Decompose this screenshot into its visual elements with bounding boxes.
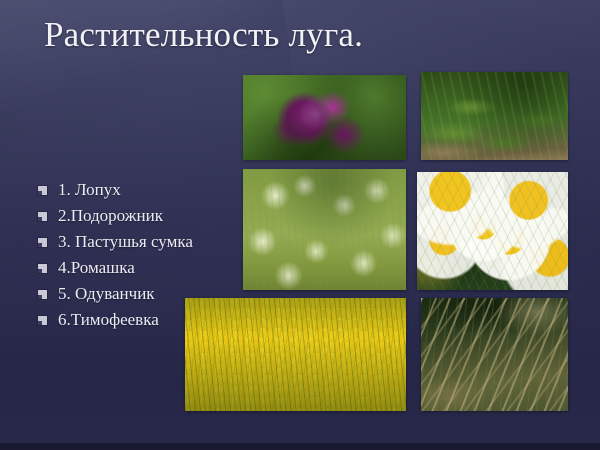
list-item[interactable]: 6.Тимофеевка — [38, 308, 193, 332]
slide-title: Растительность луга. — [44, 12, 363, 58]
photo-burdock[interactable] — [243, 75, 406, 160]
photo-shepherds-purse-image — [243, 169, 406, 290]
photo-dandelion[interactable] — [185, 298, 406, 411]
square-bullet-icon — [38, 264, 47, 273]
list-item-label: 5. Одуванчик — [58, 284, 155, 304]
list-item-label: 2.Подорожник — [58, 206, 163, 226]
photo-chamomile[interactable] — [417, 172, 568, 290]
list-item-label: 3. Пастушья сумка — [58, 232, 193, 252]
plant-list: 1. Лопух 2.Подорожник 3. Пастушья сумка … — [38, 178, 193, 334]
list-item[interactable]: 5. Одуванчик — [38, 282, 193, 306]
list-item-label: 4.Ромашка — [58, 258, 135, 278]
photo-timothy-grass[interactable] — [421, 298, 568, 411]
list-item-label: 1. Лопух — [58, 180, 121, 200]
photo-plantain[interactable] — [421, 72, 568, 160]
square-bullet-icon — [38, 238, 47, 247]
photo-timothy-grass-image — [421, 298, 568, 411]
list-item-label: 6.Тимофеевка — [58, 310, 159, 330]
slide-footer-strip — [0, 443, 600, 450]
square-bullet-icon — [38, 186, 47, 195]
list-item[interactable]: 4.Ромашка — [38, 256, 193, 280]
list-item[interactable]: 2.Подорожник — [38, 204, 193, 228]
photo-chamomile-image — [417, 172, 568, 290]
photo-burdock-image — [243, 75, 406, 160]
presentation-slide: Растительность луга. 1. Лопух 2.Подорожн… — [0, 0, 600, 450]
photo-plantain-image — [421, 72, 568, 160]
list-item[interactable]: 1. Лопух — [38, 178, 193, 202]
photo-dandelion-image — [185, 298, 406, 411]
square-bullet-icon — [38, 212, 47, 221]
list-item[interactable]: 3. Пастушья сумка — [38, 230, 193, 254]
square-bullet-icon — [38, 316, 47, 325]
square-bullet-icon — [38, 290, 47, 299]
photo-shepherds-purse[interactable] — [243, 169, 406, 290]
